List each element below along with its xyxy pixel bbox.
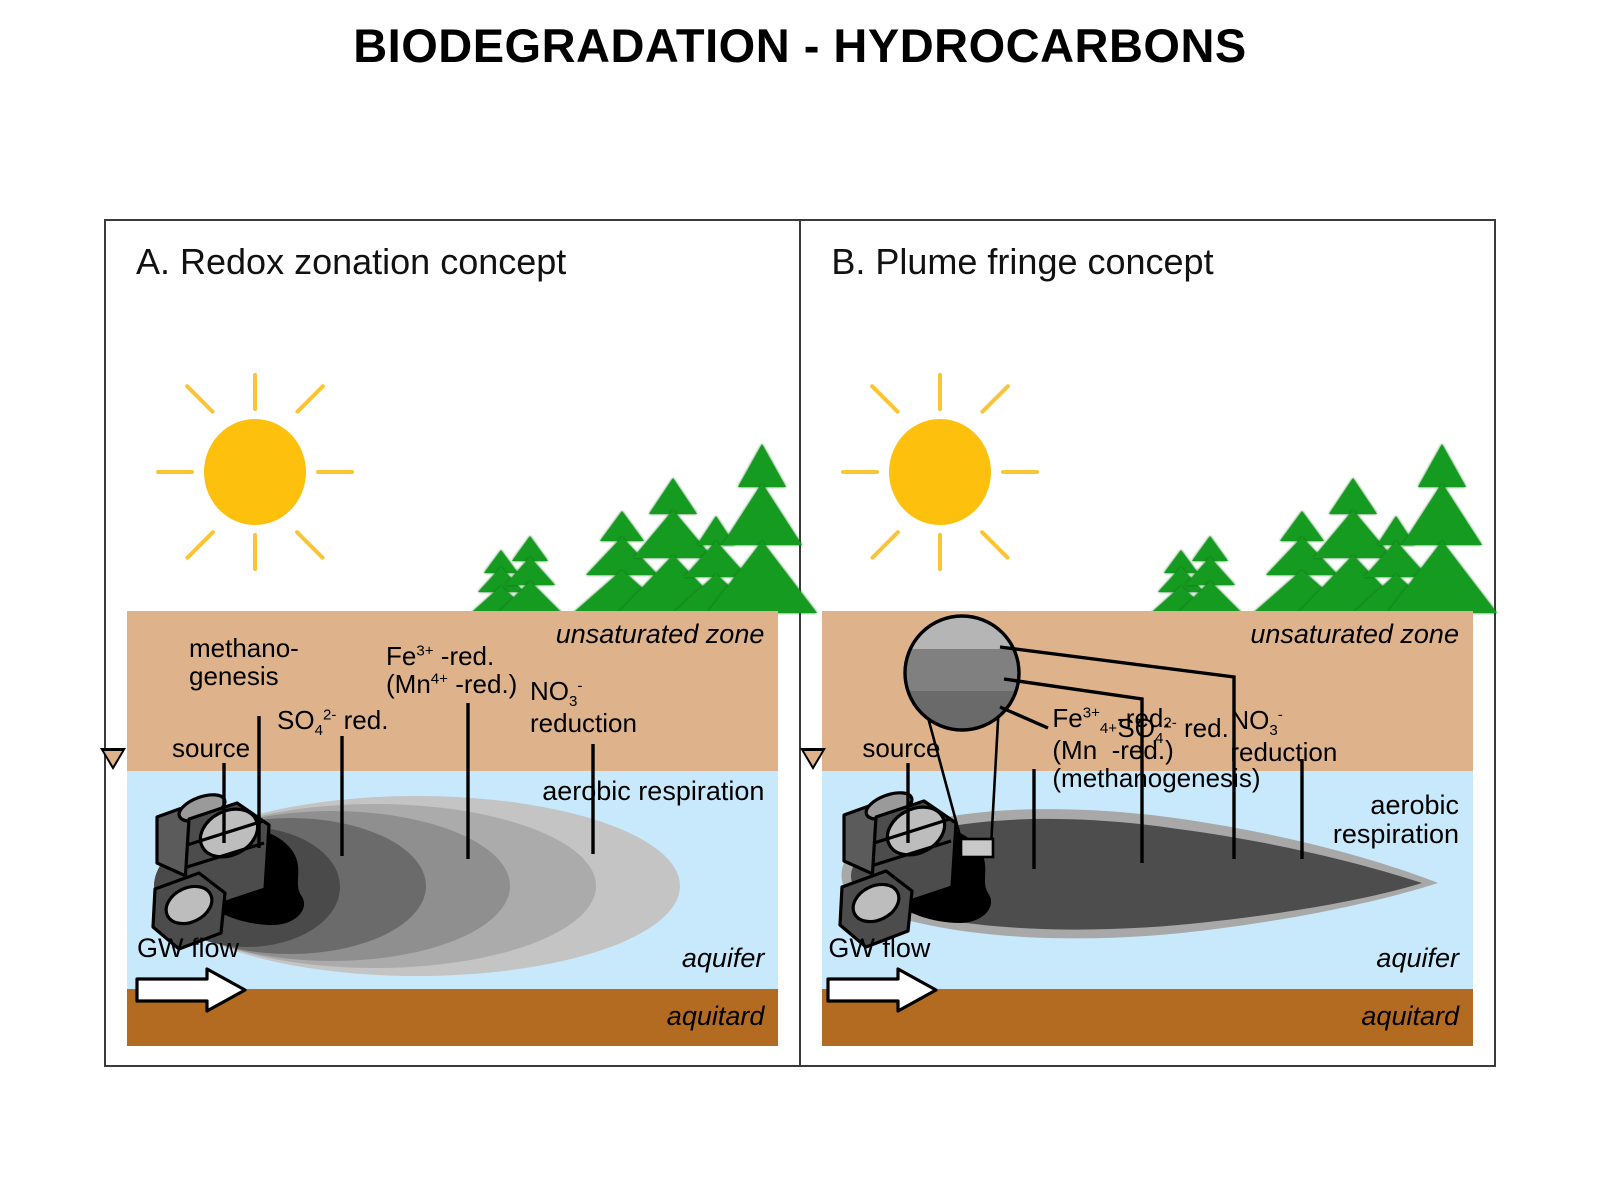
sun-ray bbox=[253, 373, 257, 411]
iron-post: -red. bbox=[441, 641, 494, 671]
sun-ray bbox=[870, 529, 901, 560]
iron-pre: Fe bbox=[386, 641, 416, 671]
label-source-b: source bbox=[862, 735, 940, 763]
page-title: BIODEGRADATION - HYDROCARBONS bbox=[0, 18, 1600, 73]
manganese-post: -red.) bbox=[455, 669, 517, 699]
sun-icon bbox=[154, 371, 354, 571]
sulfate-sup-b: 2- bbox=[1163, 714, 1176, 731]
iron-pre-b: Fe bbox=[1052, 703, 1082, 733]
figure-container: A. Redox zonation concept bbox=[104, 219, 1496, 1067]
source-label-a: source bbox=[172, 733, 250, 763]
panel-plume-fringe: B. Plume fringe concept bbox=[801, 221, 1494, 1065]
manganese-pre-b: (Mn bbox=[1052, 735, 1097, 765]
sulfate-formula: SO bbox=[277, 705, 315, 735]
sun-ray bbox=[156, 470, 194, 474]
label-source-a: source bbox=[172, 735, 250, 763]
manganese-pre: (Mn bbox=[386, 669, 431, 699]
sulfate-sub-b: 4 bbox=[1155, 730, 1163, 747]
sulfate-suffix: red. bbox=[336, 705, 388, 735]
panel-redox-zonation: A. Redox zonation concept bbox=[106, 221, 801, 1065]
sun-ray bbox=[295, 529, 326, 560]
magnifier-sample-box bbox=[961, 839, 993, 857]
panel-b-title: B. Plume fringe concept bbox=[831, 241, 1213, 283]
label-sulfate-reduction-a: SO42- red. bbox=[277, 707, 388, 739]
iron-sup-b: 3+ bbox=[1083, 704, 1100, 721]
sulfate-suffix-b: red. bbox=[1177, 713, 1229, 743]
sun-ray bbox=[841, 470, 879, 474]
gw-flow-label-a: GW flow bbox=[137, 933, 239, 964]
nitrate-sup: - bbox=[577, 677, 582, 694]
sun-ray bbox=[870, 383, 901, 414]
manganese-sup: 4+ bbox=[431, 670, 448, 687]
leader-iron-b bbox=[1000, 707, 1048, 728]
nitrate-pre: NO bbox=[530, 676, 569, 706]
sun-ray bbox=[295, 383, 326, 414]
cross-section-block-a: unsaturated zone aerobic respiration aqu… bbox=[127, 611, 778, 1038]
cross-section-block-b: unsaturated zone aerobic respiration aqu… bbox=[822, 611, 1473, 1038]
nitrate-line2-b: reduction bbox=[1230, 737, 1337, 767]
conifer-trees-icon bbox=[469, 431, 759, 613]
tree-small-2 bbox=[498, 537, 562, 613]
groundwater-flow-arrow-icon bbox=[826, 967, 946, 1013]
sulfate-sub: 4 bbox=[315, 722, 323, 739]
gw-flow-label-b: GW flow bbox=[828, 933, 930, 964]
sulfate-sup: 2- bbox=[323, 706, 336, 723]
sun-ray bbox=[316, 470, 354, 474]
label-sulfate-reduction-b: SO42- red. bbox=[1117, 715, 1228, 747]
source-label-b: source bbox=[862, 733, 940, 763]
sun-ray bbox=[185, 383, 216, 414]
methanogenesis-line2: genesis bbox=[189, 661, 279, 691]
nitrate-sup-b: - bbox=[1278, 706, 1283, 723]
water-table-marker-icon bbox=[100, 748, 126, 770]
sun-icon bbox=[839, 371, 1039, 571]
groundwater-flow-arrow-icon bbox=[135, 967, 255, 1013]
sun-ray bbox=[980, 383, 1011, 414]
panel-a-title: A. Redox zonation concept bbox=[136, 241, 566, 283]
label-iron-manganese-a: Fe3+ -red. (Mn4+ -red.) bbox=[386, 643, 517, 698]
tree-large-4 bbox=[1387, 441, 1497, 613]
label-nitrate-reduction-b: NO3- reduction bbox=[1230, 707, 1337, 767]
nitrate-pre-b: NO bbox=[1230, 705, 1269, 735]
label-methanogenesis: methano- genesis bbox=[189, 635, 299, 690]
sulfate-formula-b: SO bbox=[1117, 713, 1155, 743]
sun-ray bbox=[1001, 470, 1039, 474]
methanogenesis-b: (methanogenesis) bbox=[1052, 763, 1260, 793]
nitrate-line2: reduction bbox=[530, 708, 637, 738]
sun-ray bbox=[938, 533, 942, 571]
sun-disc bbox=[889, 419, 991, 525]
sun-disc bbox=[204, 419, 306, 525]
sun-ray bbox=[980, 529, 1011, 560]
methanogenesis-line1: methano- bbox=[189, 633, 299, 663]
conifer-trees-icon bbox=[1149, 431, 1439, 613]
mag-band-medium bbox=[902, 649, 1027, 691]
label-nitrate-reduction-a: NO3- reduction bbox=[530, 678, 637, 738]
sun-ray bbox=[253, 533, 257, 571]
iron-sup: 3+ bbox=[416, 642, 433, 659]
sun-ray bbox=[185, 529, 216, 560]
sun-ray bbox=[938, 373, 942, 411]
tree-small-2 bbox=[1178, 537, 1242, 613]
